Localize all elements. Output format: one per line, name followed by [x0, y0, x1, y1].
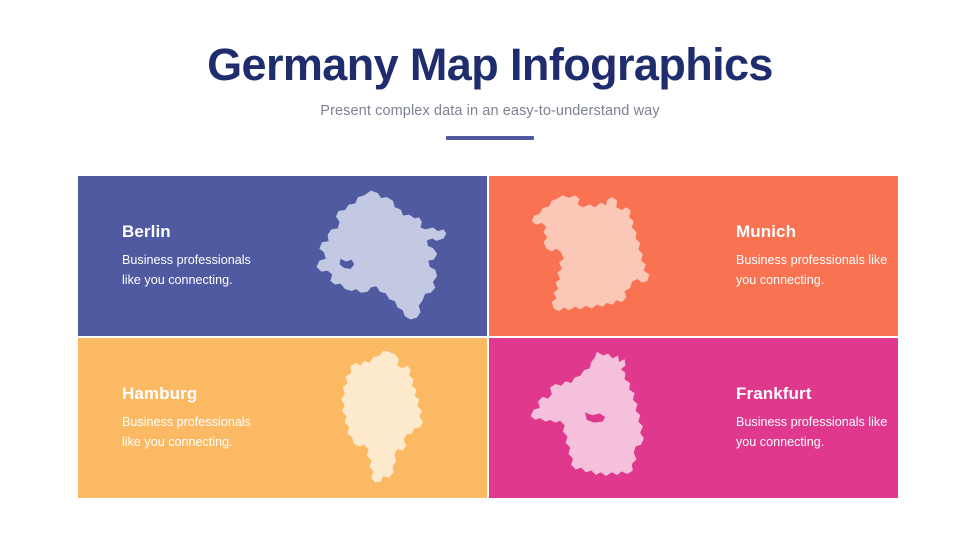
map-path — [316, 191, 446, 320]
panel-text-block: Munich Business professionals like you c… — [702, 222, 898, 289]
panel-body: Business professionals like you connecti… — [122, 413, 266, 451]
map-shape-svg — [527, 187, 665, 325]
map-shape-svg — [527, 349, 665, 487]
page-subtitle: Present complex data in an easy-to-under… — [0, 90, 980, 119]
panel-berlin[interactable]: Berlin Business professionals like you c… — [78, 176, 487, 336]
panel-heading: Munich — [736, 222, 890, 242]
map-bavaria — [489, 176, 702, 336]
accent-rule — [446, 136, 534, 140]
map-brandenburg — [489, 338, 702, 498]
infographic-panel-grid: Berlin Business professionals like you c… — [78, 176, 900, 498]
panel-text-block: Frankfurt Business professionals like yo… — [702, 384, 898, 451]
map-shape-svg — [312, 187, 450, 325]
panel-text-block: Berlin Business professionals like you c… — [78, 222, 274, 289]
panel-body: Business professionals like you connecti… — [736, 413, 890, 451]
map-shape-svg — [330, 349, 431, 487]
map-hesse — [274, 338, 487, 498]
map-path — [531, 195, 649, 311]
map-lower-saxony — [274, 176, 487, 336]
panel-frankfurt[interactable]: Frankfurt Business professionals like yo… — [489, 338, 898, 498]
slide-header: Germany Map Infographics Present complex… — [0, 0, 980, 140]
panel-body: Business professionals like you connecti… — [736, 251, 890, 289]
panel-heading: Berlin — [122, 222, 266, 242]
panel-body: Business professionals like you connecti… — [122, 251, 266, 289]
map-path — [530, 352, 643, 476]
panel-munich[interactable]: Munich Business professionals like you c… — [489, 176, 898, 336]
map-path — [341, 351, 423, 483]
panel-hamburg[interactable]: Hamburg Business professionals like you … — [78, 338, 487, 498]
panel-heading: Hamburg — [122, 384, 266, 404]
panel-text-block: Hamburg Business professionals like you … — [78, 384, 274, 451]
panel-heading: Frankfurt — [736, 384, 890, 404]
page-title: Germany Map Infographics — [0, 0, 980, 90]
